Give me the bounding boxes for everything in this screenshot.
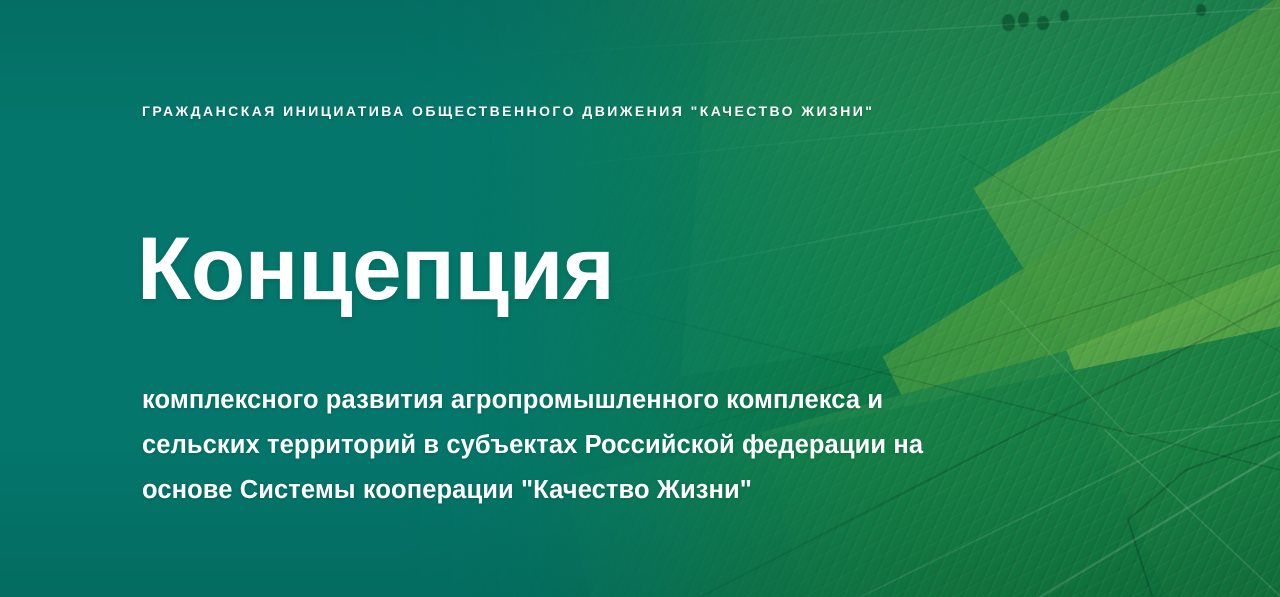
hero-subtitle: комплексного развития агропромышленного …: [142, 378, 1004, 513]
hero-eyebrow: ГРАЖДАНСКАЯ ИНИЦИАТИВА ОБЩЕСТВЕННОГО ДВИ…: [142, 101, 874, 121]
hero-banner: ГРАЖДАНСКАЯ ИНИЦИАТИВА ОБЩЕСТВЕННОГО ДВИ…: [0, 0, 1280, 597]
page-title: Концепция: [137, 222, 614, 314]
hero-content: ГРАЖДАНСКАЯ ИНИЦИАТИВА ОБЩЕСТВЕННОГО ДВИ…: [142, 0, 1022, 597]
